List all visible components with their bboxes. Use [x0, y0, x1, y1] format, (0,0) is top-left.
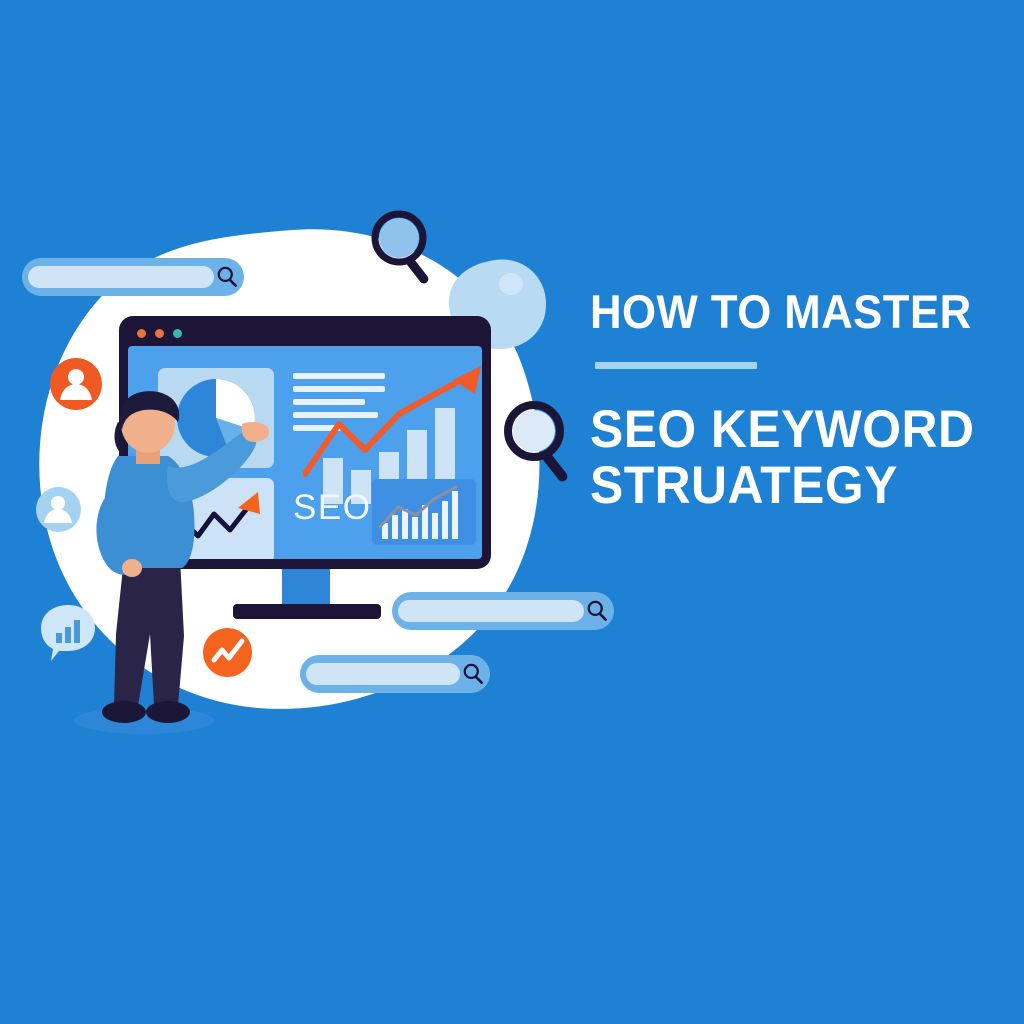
- magnifier-icon: [500, 400, 582, 488]
- search-magnifier[interactable]: [584, 598, 610, 624]
- monitor-titlebar: [127, 324, 483, 343]
- headline-block: HOW TO MASTER SEO KEYWORD STRUATEGY: [590, 288, 990, 514]
- screen-seo-label: SEO: [293, 488, 371, 528]
- magnifier-icon: [584, 598, 610, 624]
- trend-badge-orange[interactable]: [203, 628, 252, 677]
- magnifier-icon: [368, 210, 442, 290]
- seo-illustration: SEO: [0, 0, 620, 790]
- magnifier-icon: [460, 661, 486, 687]
- window-dot-close-icon: [137, 329, 146, 338]
- mini-bar-chart-icon: [372, 479, 476, 545]
- user-icon: [36, 487, 81, 532]
- user-badge-orange[interactable]: [50, 358, 102, 410]
- search-bar-bottom[interactable]: [300, 655, 490, 693]
- search-bar-top[interactable]: [22, 258, 244, 296]
- search-input[interactable]: [306, 663, 460, 686]
- person-illustration: [72, 390, 272, 735]
- headline-main-line-1: SEO KEYWORD: [590, 402, 966, 458]
- user-badge-light[interactable]: [36, 487, 81, 532]
- poster-canvas: SEO: [0, 0, 1024, 1024]
- search-magnifier[interactable]: [214, 264, 240, 290]
- chat-bubble-bar-chart[interactable]: [37, 601, 99, 663]
- headline-top-line: HOW TO MASTER: [590, 288, 962, 335]
- search-input[interactable]: [398, 600, 584, 623]
- magnifier-icon: [214, 264, 240, 290]
- search-input[interactable]: [28, 266, 214, 289]
- trend-line-icon: [203, 628, 252, 677]
- window-dot-minimize-icon: [155, 329, 164, 338]
- search-magnifier[interactable]: [460, 661, 486, 687]
- headline-divider: [595, 362, 757, 369]
- headline-main-line-2: STRUATEGY: [590, 458, 966, 514]
- monitor-neck: [282, 568, 330, 604]
- user-icon: [50, 358, 102, 410]
- search-bar-mid[interactable]: [392, 592, 614, 630]
- mini-chart-panel: [372, 479, 476, 545]
- window-dot-maximize-icon: [173, 329, 182, 338]
